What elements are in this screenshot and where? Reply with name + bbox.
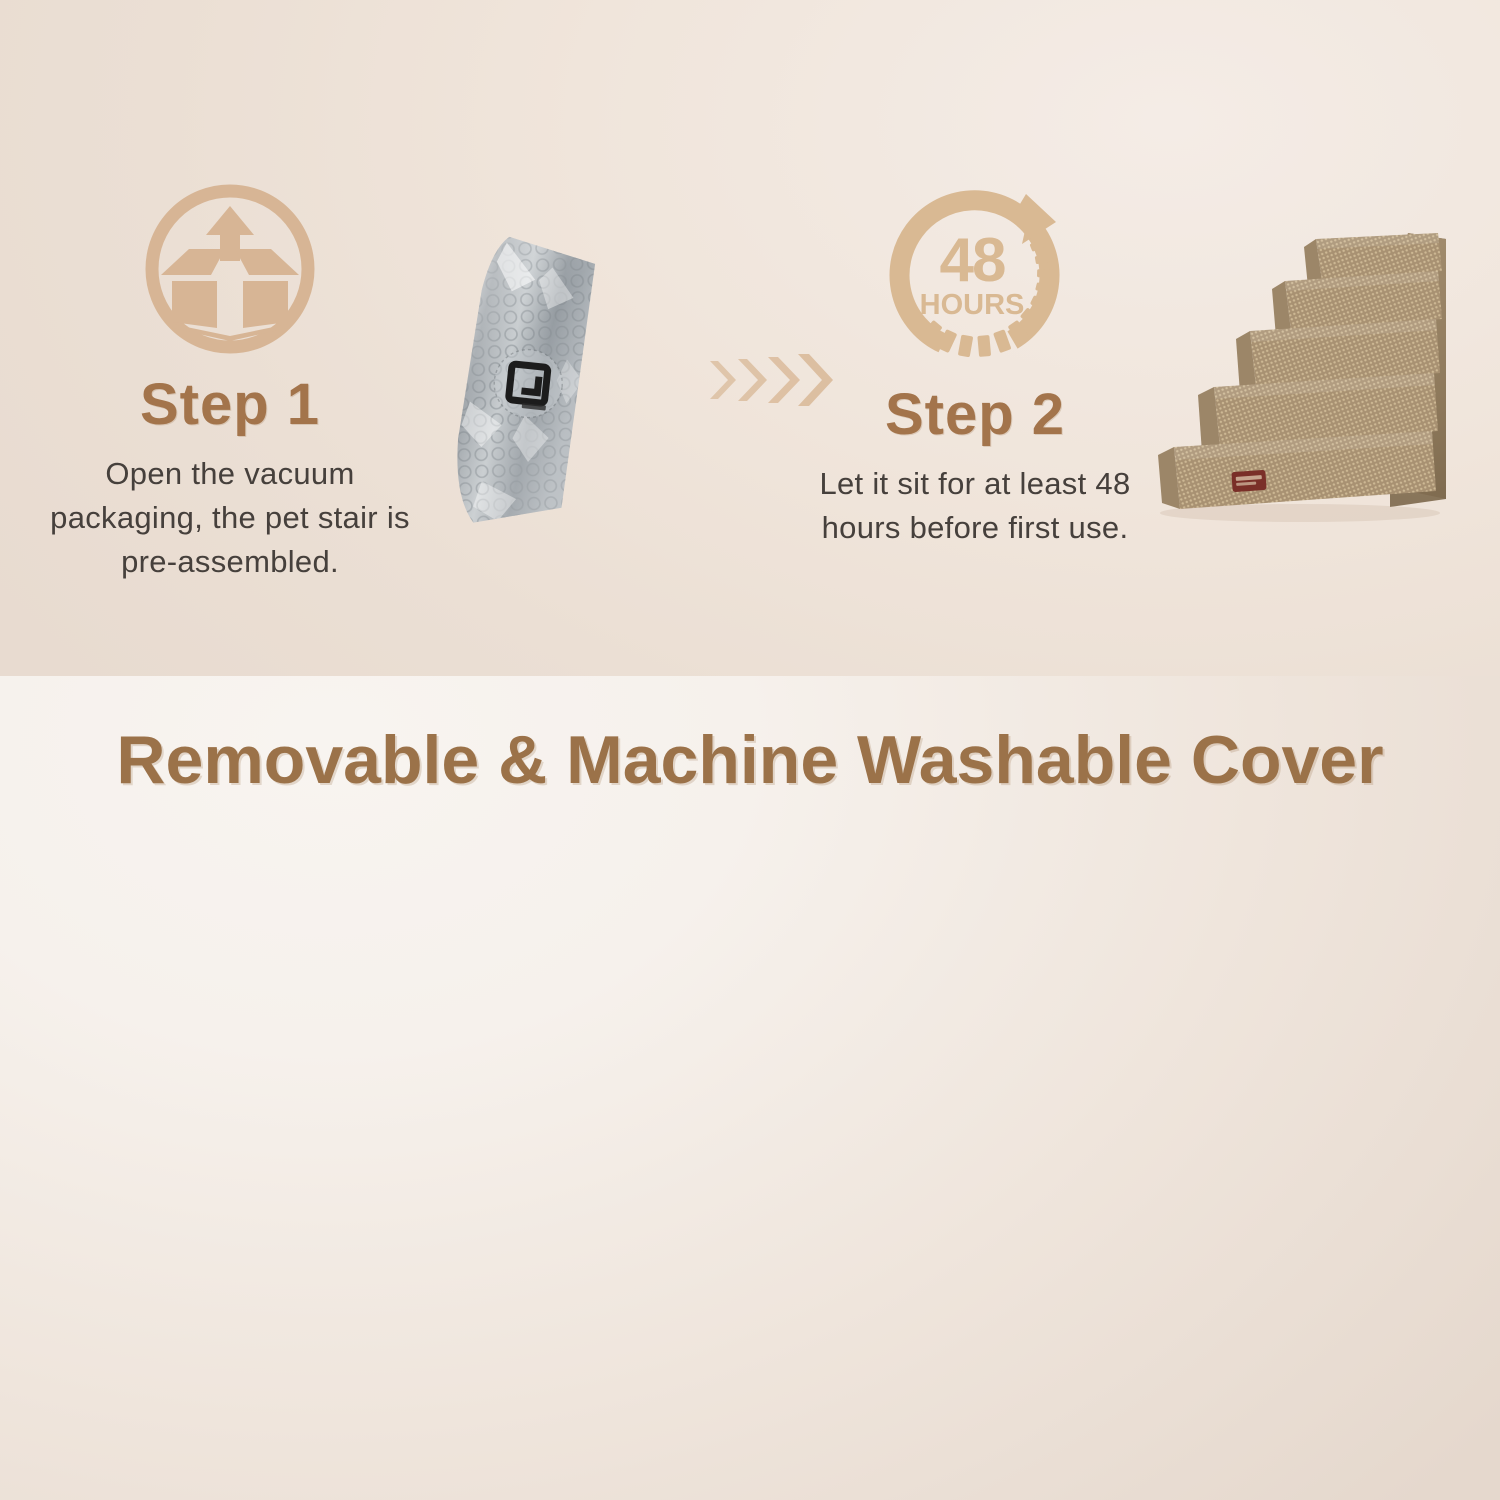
steps-section: Step 1 Open the vacuum packaging, the pe… <box>0 0 1500 676</box>
pet-stairs-cover-unzipped-photo <box>470 1496 1230 1500</box>
step-2-icon-wrap: 48 HOURS <box>785 186 1165 386</box>
48-hours-label: HOURS <box>920 289 1025 321</box>
page-title: Removable & Machine Washable Cover <box>0 721 1500 799</box>
48-hours-number: 48 <box>940 226 1005 295</box>
pet-stairs-5-step-photo <box>1150 215 1480 525</box>
infographic-page: Step 1 Open the vacuum packaging, the pe… <box>0 0 1500 1500</box>
step-2-description: Let it sit for at least 48 hours before … <box>785 462 1165 550</box>
48-hours-icon: 48 HOURS <box>886 186 1064 364</box>
box-open-arrow-up-icon <box>137 176 323 362</box>
step-1-icon-wrap <box>40 176 420 376</box>
step-1-title: Step 1 <box>40 376 420 434</box>
step-1-block: Step 1 Open the vacuum packaging, the pe… <box>40 176 420 584</box>
washable-cover-section: Removable & Machine Washable Cover <box>0 676 1500 1500</box>
step-1-description: Open the vacuum packaging, the pet stair… <box>40 452 420 584</box>
step-2-title: Step 2 <box>785 386 1165 444</box>
step-2-block: 48 HOURS Step 2 Let it sit for at least … <box>785 186 1165 550</box>
brand-tag <box>1231 470 1266 492</box>
vacuum-packed-roll-photo <box>432 236 632 536</box>
